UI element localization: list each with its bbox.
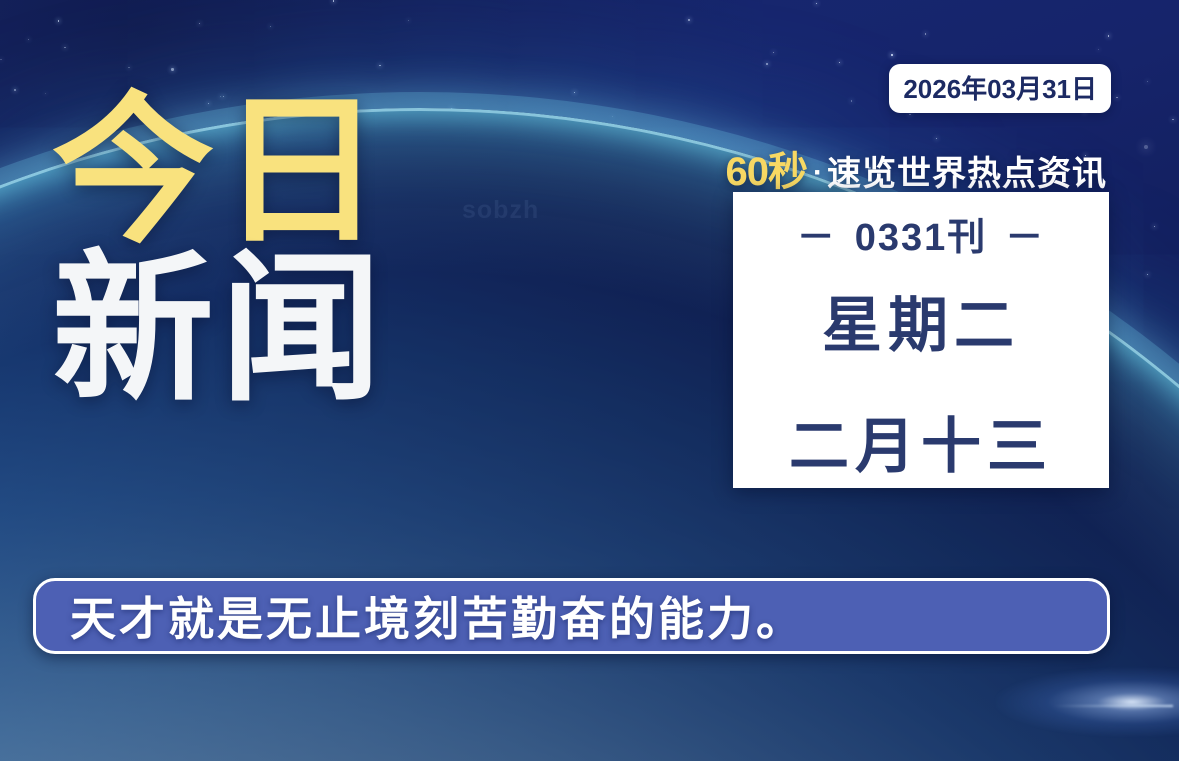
quote-bar: 天才就是无止境刻苦勤奋的能力。	[33, 578, 1110, 654]
issue-number: 0331刊	[855, 206, 988, 261]
tagline-text: 速览世界热点资讯	[827, 155, 1107, 193]
page-title-line1: 今日	[52, 96, 388, 248]
issue-dash-right: －	[1005, 206, 1045, 261]
tagline-seconds: 60秒	[726, 150, 808, 194]
news-poster: sobzh 今日 新闻 2026年03月31日 60秒·速览世界热点资讯 － 0…	[0, 0, 1179, 761]
issue-card: － 0331刊 － 星期二 二月十三	[733, 192, 1109, 488]
issue-dash-left: －	[797, 206, 837, 261]
tagline-separator: ·	[813, 156, 823, 189]
tagline: 60秒·速览世界热点资讯	[726, 139, 1108, 197]
weekday-label: 星期二	[822, 277, 1020, 364]
quote-text: 天才就是无止境刻苦勤奋的能力。	[70, 583, 805, 649]
watermark-text: sobzh	[462, 196, 539, 225]
lunar-date-label: 二月十三	[789, 398, 1053, 485]
page-title-line2: 新闻	[52, 254, 388, 406]
issue-line: － 0331刊 －	[797, 206, 1046, 261]
date-badge: 2026年03月31日	[889, 64, 1111, 113]
page-title: 今日 新闻	[52, 96, 388, 407]
lens-flare-star	[995, 667, 1179, 737]
